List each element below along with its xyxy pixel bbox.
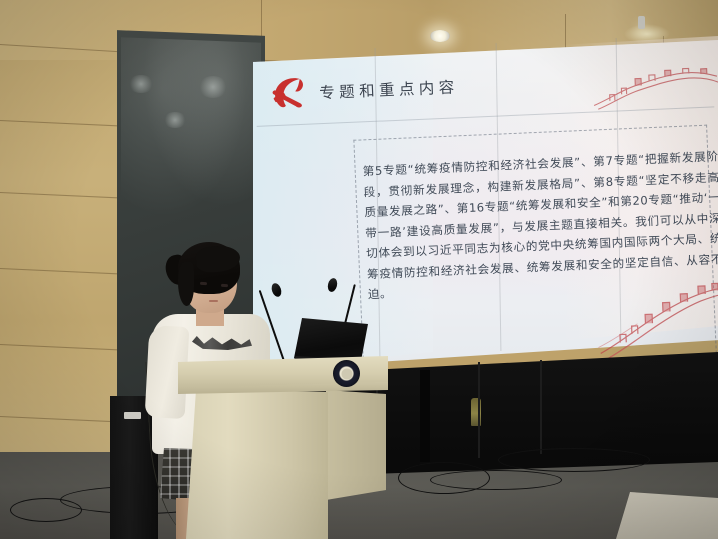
floor-cable <box>430 470 562 490</box>
podium-seal-icon <box>333 360 360 387</box>
cpc-hammer-sickle-emblem <box>269 75 312 113</box>
podium-side-panel <box>326 390 386 500</box>
presenter-hair-side <box>178 262 194 306</box>
stage-panel-gap <box>420 370 430 462</box>
great-wall-illustration-bottom <box>593 270 718 362</box>
stage-panel-seam <box>478 362 480 458</box>
slide-title-row: 专题和重点内容 <box>268 56 590 120</box>
floor-step <box>616 492 718 539</box>
presenter-eye <box>200 282 207 285</box>
podium-front-panel <box>186 390 328 539</box>
presenter-eye <box>221 284 228 287</box>
floor-cable <box>498 448 650 472</box>
dark-panel-reflection <box>121 37 261 242</box>
panel-light-reflection <box>128 75 154 93</box>
speaker-badge <box>124 412 141 419</box>
slide-title: 专题和重点内容 <box>319 75 459 103</box>
stage-panel-seam <box>540 360 542 454</box>
fire-extinguisher <box>471 398 481 426</box>
panel-light-reflection <box>198 76 228 98</box>
presenter-mouth <box>209 300 218 302</box>
panel-light-reflection <box>163 112 187 128</box>
slide-content: 专题和重点内容 第5专题“统筹疫情防控和经济社会发展”、第7专题“把握新发展阶段… <box>253 20 718 370</box>
presentation-photo: 专题和重点内容 第5专题“统筹疫情防控和经济社会发展”、第7专题“把握新发展阶段… <box>0 0 718 539</box>
